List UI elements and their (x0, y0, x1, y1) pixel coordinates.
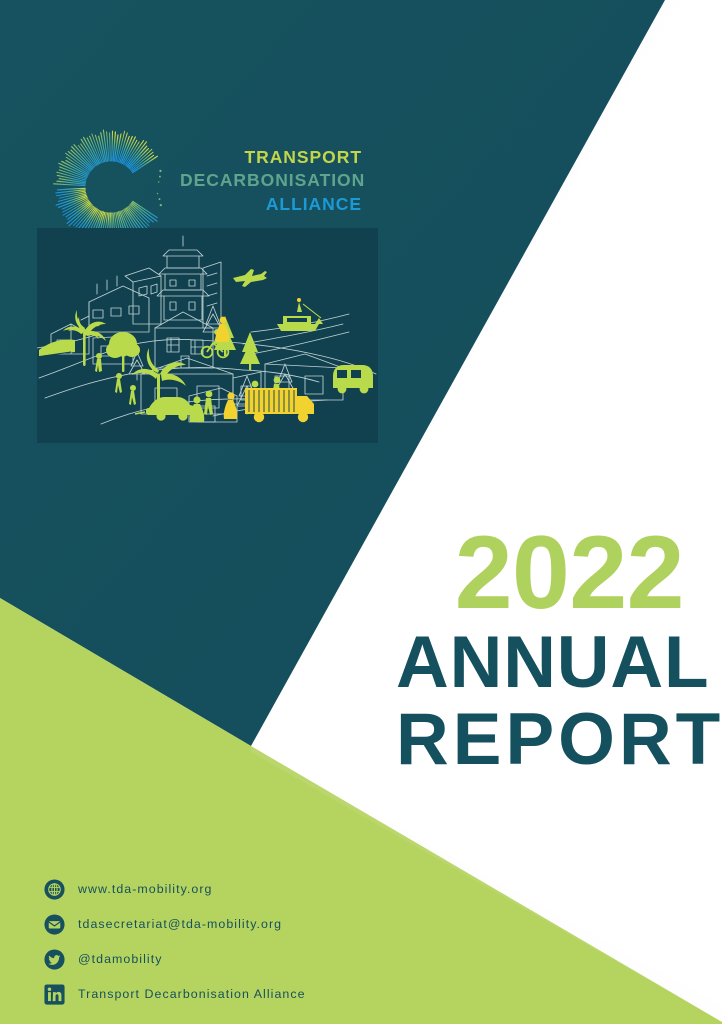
city-scene-svg (37, 228, 378, 443)
sustainable-city-illustration (37, 228, 378, 443)
logo-line-decarbonisation: DECARBONISATION (180, 169, 362, 192)
contact-label-website: www.tda-mobility.org (78, 882, 212, 896)
report-year: 2022 (396, 524, 684, 624)
contact-row-linkedin[interactable]: Transport Decarbonisation Alliance (44, 981, 444, 1007)
contact-list: www.tda-mobility.org tdasecretariat@tda-… (44, 876, 444, 1007)
contact-label-email: tdasecretariat@tda-mobility.org (78, 917, 282, 931)
tda-logo: TRANSPORT DECARBONISATION ALLIANCE (52, 128, 362, 240)
report-title-line-1: ANNUAL (396, 624, 684, 701)
contact-row-twitter[interactable]: @tdamobility (44, 946, 444, 972)
contact-label-twitter: @tdamobility (78, 952, 162, 966)
linkedin-icon (44, 984, 65, 1005)
report-title-line-2: REPORT (396, 701, 684, 778)
report-cover-page: TRANSPORT DECARBONISATION ALLIANCE (0, 0, 722, 1024)
logo-line-transport: TRANSPORT (180, 146, 362, 169)
globe-icon (44, 879, 65, 900)
contact-label-linkedin: Transport Decarbonisation Alliance (78, 987, 306, 1001)
envelope-icon (44, 914, 65, 935)
contact-row-email[interactable]: tdasecretariat@tda-mobility.org (44, 911, 444, 937)
contact-row-website[interactable]: www.tda-mobility.org (44, 876, 444, 902)
cover-title-block: 2022 ANNUAL REPORT (396, 524, 684, 779)
tda-logo-wordmark: TRANSPORT DECARBONISATION ALLIANCE (180, 146, 362, 216)
twitter-icon (44, 949, 65, 970)
logo-line-alliance: ALLIANCE (180, 193, 362, 216)
